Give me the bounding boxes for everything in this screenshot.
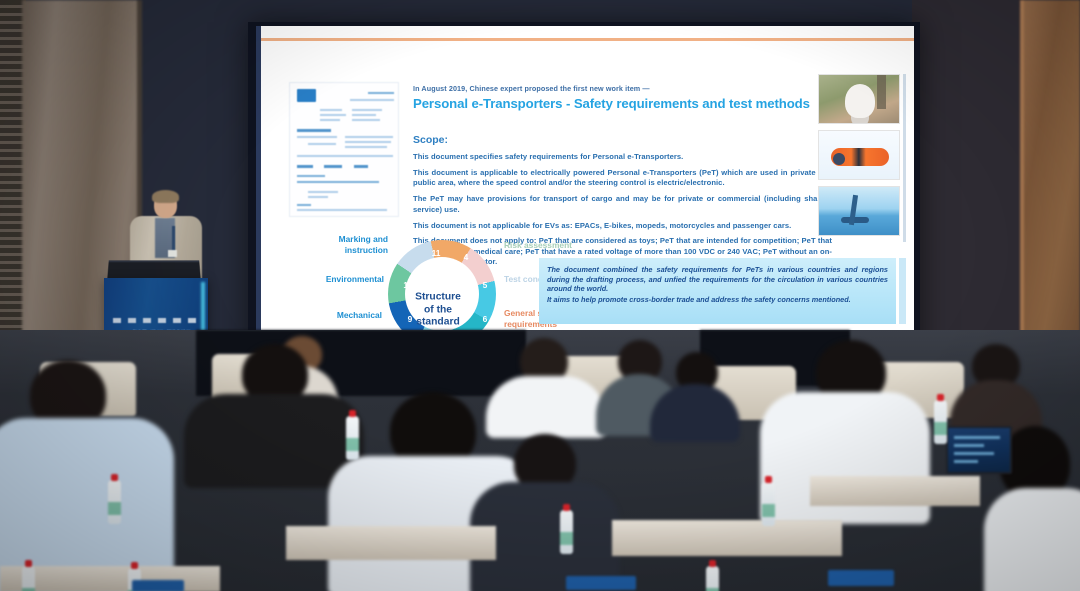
segment-number-11: 11 — [429, 248, 443, 258]
photo-person-on-e-transporter — [818, 74, 900, 124]
speaker-name-badge — [168, 250, 177, 257]
label-mechanical: Mechanical — [292, 310, 382, 321]
audience-member — [650, 352, 740, 438]
chair-accent-band — [566, 576, 636, 590]
conference-table — [810, 476, 980, 506]
slide-photo-strip — [818, 74, 900, 242]
iec-logo-icon — [297, 89, 316, 102]
conference-table — [286, 526, 496, 560]
screenshot-stage: In August 2019, Chinese expert proposed … — [0, 0, 1080, 591]
audience-member — [0, 360, 160, 590]
slide-callout-box: The document combined the safety require… — [539, 258, 896, 324]
scope-label: Scope: — [413, 134, 448, 146]
callout-edge — [899, 258, 906, 324]
label-risk-assessment: Risk assessment — [504, 240, 614, 251]
speaker-lanyard — [172, 226, 175, 252]
water-bottle — [108, 480, 121, 524]
new-work-item-proposal-document — [289, 82, 399, 217]
scope-paragraph: The PeT may have provisions for transpor… — [413, 194, 832, 215]
photo-strip-edge — [903, 74, 906, 242]
label-marking-and-instruction: Marking and instruction — [288, 234, 388, 255]
chair-accent-band — [132, 580, 184, 591]
callout-line-2: It aims to help promote cross-border tra… — [547, 295, 888, 305]
water-bottle — [934, 400, 947, 444]
conference-table — [612, 520, 842, 556]
water-bottle — [346, 416, 359, 460]
water-bottle — [706, 566, 719, 591]
scope-paragraph: This document specifies safety requireme… — [413, 152, 832, 162]
segment-number-9: 9 — [403, 314, 417, 324]
photo-electric-scooter — [818, 186, 900, 236]
label-environmental: Environmental — [276, 274, 384, 285]
slide-accent-line — [256, 38, 914, 41]
segment-number-6: 6 — [478, 314, 492, 324]
slide-title: Personal e-Transporters - Safety require… — [413, 96, 883, 111]
audience-foreground — [0, 330, 1080, 591]
water-bottle — [22, 566, 35, 591]
chair-accent-band — [828, 570, 894, 586]
scope-paragraph: This document is applicable to electrica… — [413, 168, 832, 189]
water-bottle — [762, 482, 775, 526]
slide-eyebrow-text: In August 2019, Chinese expert proposed … — [413, 84, 843, 93]
callout-line-1: The document combined the safety require… — [547, 265, 888, 294]
audience-member — [470, 434, 620, 591]
photo-orange-hoverboard — [818, 130, 900, 180]
podium-sponsor-logos — [113, 318, 199, 323]
speaker-hair — [152, 190, 179, 203]
water-bottle — [560, 510, 573, 554]
audience-laptop — [946, 426, 1012, 474]
segment-number-5: 5 — [478, 280, 492, 290]
segment-number-4: 4 — [459, 252, 473, 262]
segment-number-10: 10 — [401, 280, 415, 290]
